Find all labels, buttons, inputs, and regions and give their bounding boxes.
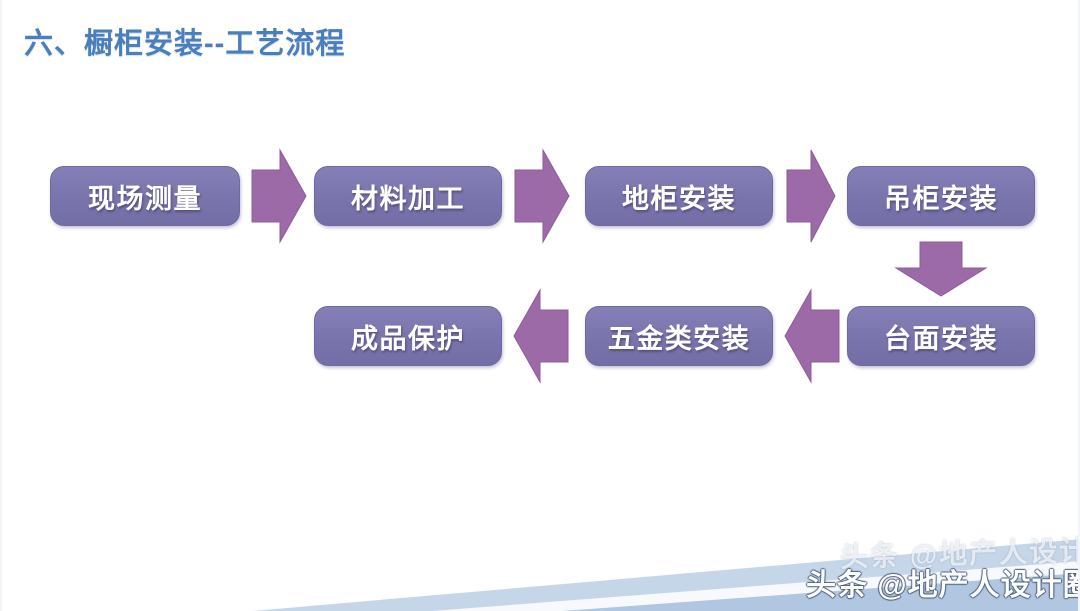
process-flow-diagram: 现场测量 材料加工 地柜安装 吊柜安装 台面安装 五金类安装 成品保护 — [2, 0, 1080, 611]
arrow-right-icon — [250, 148, 308, 244]
flow-node-material-processing[interactable]: 材料加工 — [314, 166, 502, 226]
arrow-right-icon — [513, 148, 571, 244]
flow-node-label: 地柜安装 — [622, 177, 736, 216]
arrow-left-icon — [512, 288, 570, 384]
slide-canvas: 六、橱柜安装--工艺流程 现场测量 材料加工 地柜安装 吊柜安装 台面安装 五金… — [0, 0, 1080, 611]
flow-node-label: 台面安装 — [884, 317, 998, 356]
flow-node-wall-cabinet-installation[interactable]: 吊柜安装 — [847, 166, 1035, 226]
flow-node-on-site-measurement[interactable]: 现场测量 — [50, 166, 240, 226]
arrow-left-icon — [783, 288, 841, 384]
flow-node-finished-product-protection[interactable]: 成品保护 — [314, 306, 502, 366]
flow-node-label: 吊柜安装 — [884, 177, 998, 216]
watermark-main: 头条 @地产人设计圈 — [806, 560, 1080, 604]
arrow-down-icon — [894, 240, 988, 298]
flow-node-label: 五金类安装 — [608, 317, 751, 356]
flow-node-hardware-installation[interactable]: 五金类安装 — [585, 306, 773, 366]
arrow-right-icon — [785, 148, 837, 244]
flow-node-label: 材料加工 — [351, 177, 465, 216]
flow-node-label: 成品保护 — [351, 317, 465, 356]
flow-node-countertop-installation[interactable]: 台面安装 — [847, 306, 1035, 366]
flow-node-label: 现场测量 — [88, 177, 202, 216]
flow-node-base-cabinet-installation[interactable]: 地柜安装 — [585, 166, 773, 226]
